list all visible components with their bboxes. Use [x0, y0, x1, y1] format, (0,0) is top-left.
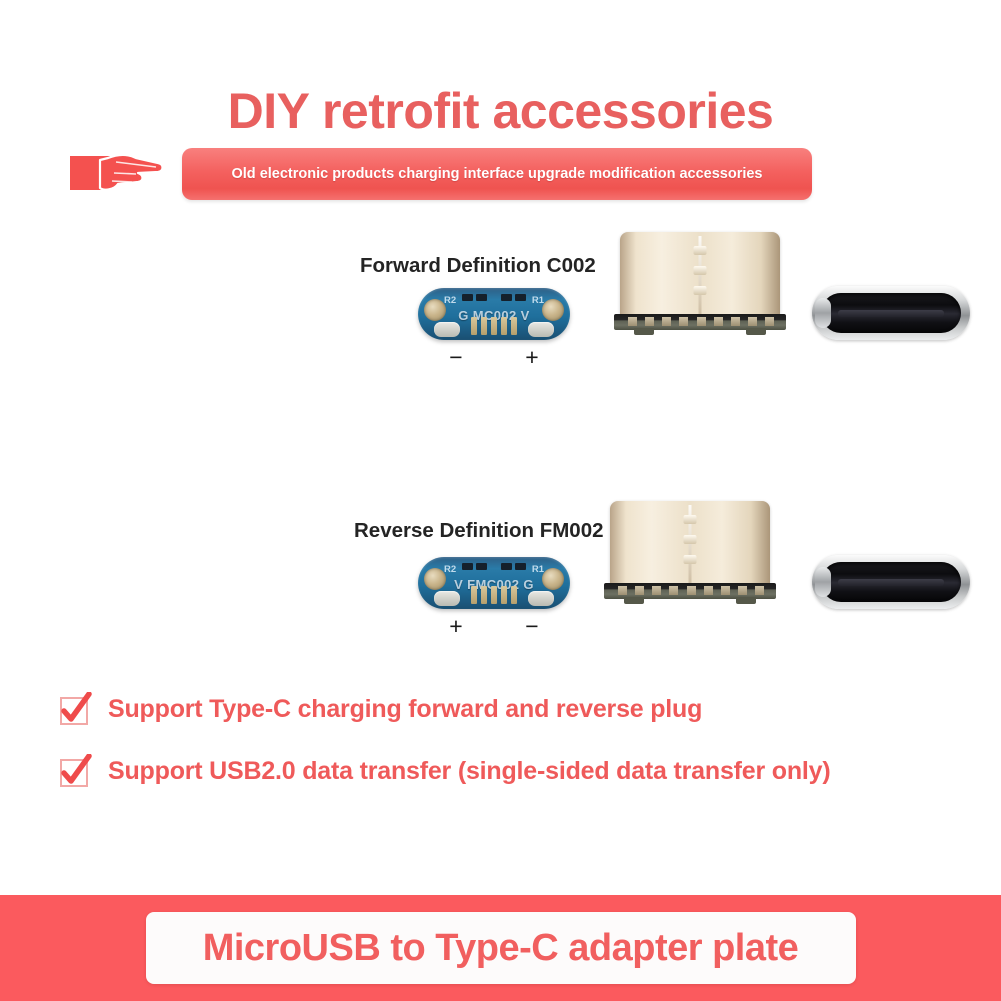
pcb-solder-pad-left — [434, 591, 460, 606]
product-label: Forward Definition C002 — [360, 254, 596, 278]
polarity-right: − — [525, 615, 538, 638]
product-row-forward: Forward Definition C002 R2 R1 G MC002 V — [0, 226, 1001, 376]
product-row-reverse: Reverse Definition FM002 R2 R1 V FMC002 … — [0, 493, 1001, 643]
feature-list: Support Type-C charging forward and reve… — [58, 692, 958, 816]
pcb-board-reverse: R2 R1 V FMC002 G + − — [418, 557, 570, 609]
pcb-component — [476, 294, 487, 301]
polarity-markers: + − — [418, 615, 570, 638]
pcb-component — [501, 563, 512, 570]
product-label: Reverse Definition FM002 — [354, 519, 604, 543]
subtitle-banner: Old electronic products charging interfa… — [182, 148, 812, 200]
usb-c-connector-gold-icon — [610, 501, 770, 587]
pcb-solder-pad-right — [528, 591, 554, 606]
pcb-resistor-label-right: R1 — [532, 295, 544, 306]
checkbox-checked-icon — [58, 692, 92, 726]
banner-text: MicroUSB to Type-C adapter plate — [203, 927, 799, 970]
pcb-contact-pads — [471, 586, 517, 604]
usb-c-port-black-icon — [812, 286, 970, 340]
feature-item: Support Type-C charging forward and reve… — [58, 692, 958, 726]
pcb-solder-pad-left — [434, 322, 460, 337]
pcb-component — [501, 294, 512, 301]
pcb-component — [462, 294, 473, 301]
pcb-resistor-label-right: R1 — [532, 564, 544, 575]
pcb-contact-pads — [471, 317, 517, 335]
pcb-component — [462, 563, 473, 570]
pcb-component — [515, 294, 526, 301]
pcb-component — [515, 563, 526, 570]
subtitle-text: Old electronic products charging interfa… — [232, 165, 763, 184]
banner-inner-box: MicroUSB to Type-C adapter plate — [146, 912, 856, 984]
pcb-solder-pad-right — [528, 322, 554, 337]
usb-c-port-black-icon — [812, 555, 970, 609]
pcb-resistor-label-left: R2 — [444, 564, 456, 575]
usb-c-connector-gold-icon — [620, 232, 780, 318]
polarity-right: + — [525, 346, 538, 369]
polarity-markers: − + — [418, 346, 570, 369]
polarity-left: + — [449, 615, 462, 638]
checkbox-checked-icon — [58, 754, 92, 788]
feature-item: Support USB2.0 data transfer (single-sid… — [58, 754, 958, 788]
polarity-left: − — [449, 346, 462, 369]
pcb-board-forward: R2 R1 G MC002 V − + — [418, 288, 570, 340]
pcb-resistor-label-left: R2 — [444, 295, 456, 306]
bottom-banner: MicroUSB to Type-C adapter plate — [0, 895, 1001, 1001]
pcb-component — [476, 563, 487, 570]
pointing-hand-icon — [70, 146, 166, 198]
product-infographic: DIY retrofit accessories Old electronic … — [0, 0, 1001, 1001]
feature-text: Support Type-C charging forward and reve… — [108, 695, 702, 724]
page-title: DIY retrofit accessories — [0, 82, 1001, 140]
feature-text: Support USB2.0 data transfer (single-sid… — [108, 757, 830, 786]
